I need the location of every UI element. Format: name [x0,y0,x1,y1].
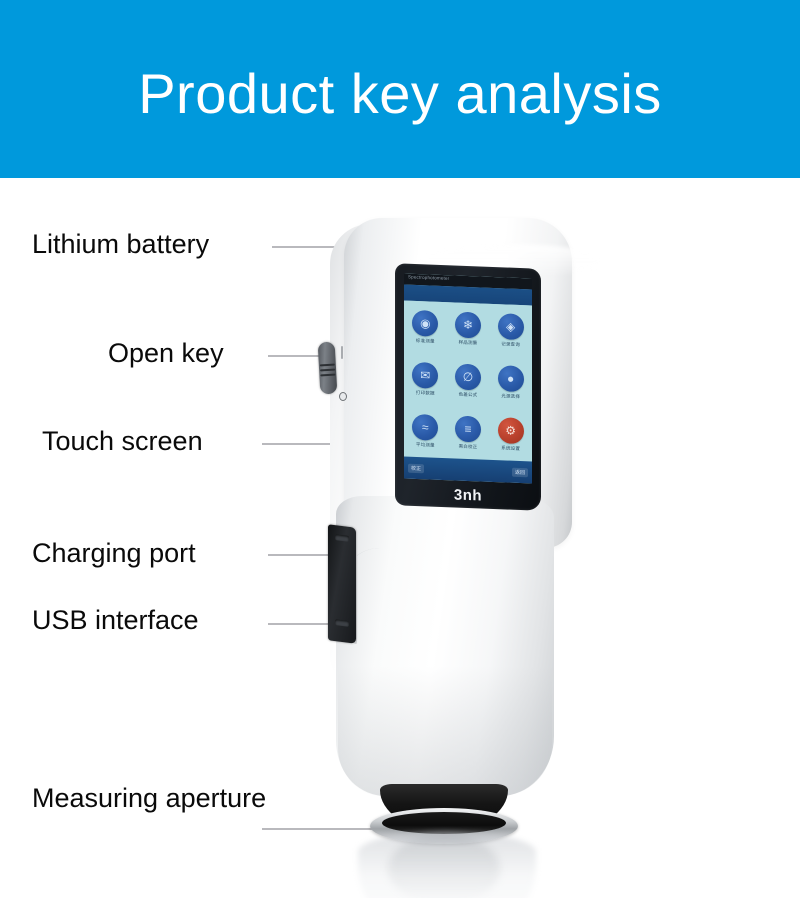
menu-item-record-query[interactable]: ◈ 记录查询 [489,304,532,358]
brand-logo: 3nh [395,484,541,507]
barrel-shadow [338,666,552,796]
target-glyph: ◉ [412,310,438,337]
housing-seam [340,548,461,618]
charging-port[interactable] [335,534,349,542]
key-slot [341,346,343,359]
menu-label: 样品测量 [459,340,478,347]
usb-interface-port[interactable] [335,619,349,627]
printer-icon: ✉ [412,362,438,389]
callout-label-touch-screen: Touch screen [42,426,203,457]
menu-label: 色差公式 [459,392,478,399]
menu-item-print-data[interactable]: ✉ 打印数据 [404,353,447,407]
menu-item-standard-measure[interactable]: ◉ 标准测量 [404,301,447,355]
snowflake-glyph: ❄ [455,312,481,339]
bulb-glyph: ● [498,365,524,392]
gear-icon: ⚙ [498,417,524,444]
list-glyph: ≡ [455,416,481,443]
port-panel [328,524,356,643]
screen-status-text: Spectrophotometer [408,275,449,282]
formula-icon: ∅ [455,364,481,391]
callout-label-lithium-battery: Lithium battery [32,229,209,260]
spectrophotometer-device: Spectrophotometer ◉ 标准测量 ❄ 样品测量 [296,196,596,876]
screen-bezel: Spectrophotometer ◉ 标准测量 ❄ 样品测量 [395,263,541,511]
screen-bottom-bar: 校正 返回 [404,457,532,484]
screen-menu-grid: ◉ 标准测量 ❄ 样品测量 ◈ 记录查询 [404,301,532,462]
gear-glyph: ⚙ [498,417,524,444]
menu-label: 平均测量 [416,442,435,449]
product-key-analysis-page: Product key analysis Lithium battery Ope… [0,0,800,898]
callout-label-charging-port: Charging port [32,538,196,569]
callout-label-measuring-aperture: Measuring aperture [32,783,266,814]
callout-label-open-key: Open key [108,338,224,369]
average-icon: ≈ [412,414,438,441]
status-led-icon [339,392,347,401]
menu-label: 系统设置 [501,445,520,452]
menu-item-color-formula[interactable]: ∅ 色差公式 [447,354,490,408]
page-banner: Product key analysis [0,0,800,178]
calibrate-button[interactable]: 校正 [408,463,424,473]
menu-label: 光源选择 [501,393,520,400]
open-key-button[interactable] [318,342,338,395]
target-icon: ◉ [412,310,438,337]
snowflake-icon: ❄ [455,312,481,339]
open-key-ridge [320,364,335,367]
menu-item-sample-measure[interactable]: ❄ 样品测量 [447,302,490,356]
menu-item-system-settings[interactable]: ⚙ 系统设置 [489,408,532,462]
open-key-ridge [320,369,335,372]
menu-label: 打印数据 [416,390,435,397]
menu-label: 黑白校正 [459,444,478,451]
diamond-glyph: ◈ [498,313,524,340]
back-button[interactable]: 返回 [512,467,528,477]
touch-screen[interactable]: Spectrophotometer ◉ 标准测量 ❄ 样品测量 [404,274,532,484]
menu-label: 记录查询 [501,341,520,348]
measuring-aperture-opening [382,812,506,834]
page-title: Product key analysis [0,0,800,178]
list-icon: ≡ [455,416,481,443]
callout-label-usb-interface: USB interface [32,605,199,636]
menu-item-average-measure[interactable]: ≈ 平均测量 [404,405,447,459]
surface-reflection-core [388,834,500,898]
diamond-icon: ◈ [498,313,524,340]
average-glyph: ≈ [412,414,438,441]
formula-glyph: ∅ [455,364,481,391]
open-key-ridge [320,374,335,377]
menu-item-light-source[interactable]: ● 光源选择 [489,356,532,410]
printer-glyph: ✉ [412,362,438,389]
bulb-icon: ● [498,365,524,392]
menu-item-black-white-calibration[interactable]: ≡ 黑白校正 [447,406,490,460]
menu-label: 标准测量 [416,338,435,345]
